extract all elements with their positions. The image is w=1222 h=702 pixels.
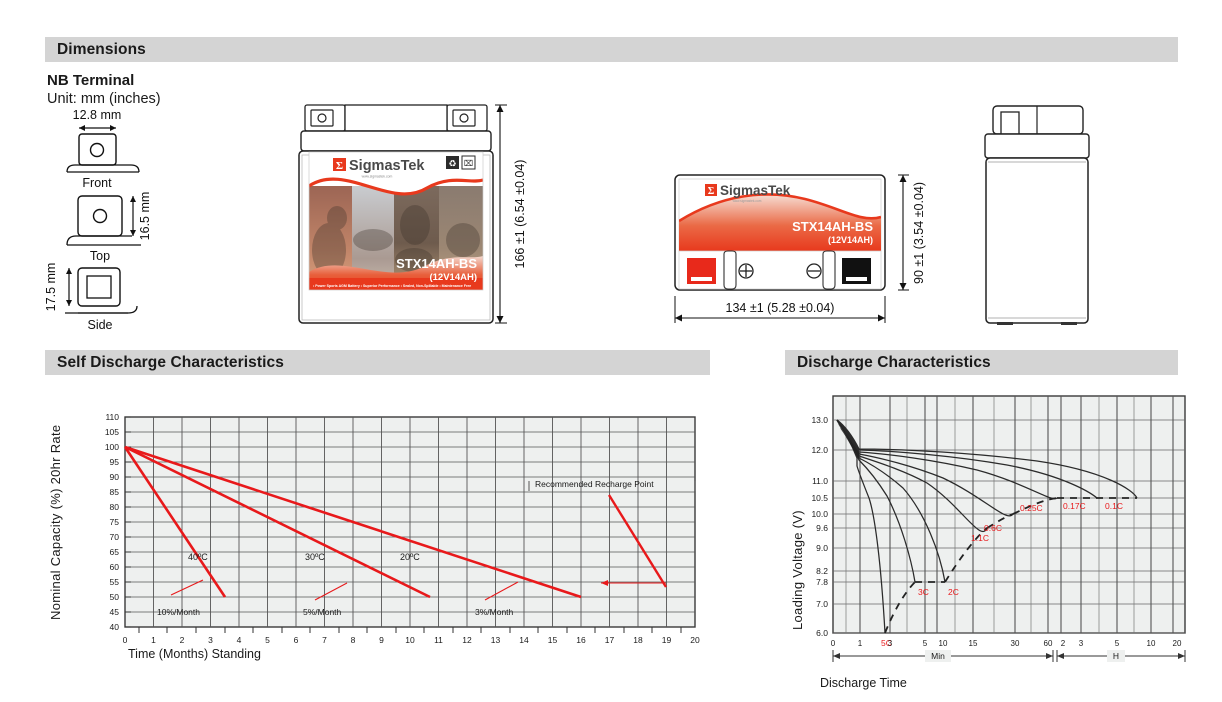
terminal-type-label: NB Terminal xyxy=(47,72,134,89)
svg-text:30: 30 xyxy=(1011,639,1020,648)
label-0-1c: 0.1C xyxy=(1105,501,1123,511)
svg-text:3: 3 xyxy=(1079,639,1084,648)
svg-text:13: 13 xyxy=(491,635,501,645)
battery-website-text-top: www.sigmastek.com xyxy=(733,199,762,203)
battery-model-text-top: STX14AH-BS xyxy=(792,219,873,234)
front-view-label: Front xyxy=(82,176,112,190)
svg-text:10.5: 10.5 xyxy=(811,493,828,503)
label-2c: 2C xyxy=(948,587,959,597)
battery-side-view xyxy=(975,100,1125,332)
section-header-dimensions: Dimensions xyxy=(45,37,1178,62)
discharge-chart: 13.0 12.0 11.0 10.5 10.0 9.6 9.0 8.2 7.8… xyxy=(785,388,1215,668)
svg-text:40: 40 xyxy=(110,622,120,632)
top-height-dim-text: 16.5 mm xyxy=(138,192,152,241)
svg-text:5: 5 xyxy=(1115,639,1120,648)
svg-text:♻: ♻ xyxy=(448,159,456,169)
xaxis-group-min: Min xyxy=(931,651,945,661)
svg-text:10: 10 xyxy=(939,639,948,648)
section-title-dimensions: Dimensions xyxy=(57,41,146,59)
battery-spec-text-top: (12V14AH) xyxy=(828,235,873,245)
battery-website-text: www.sigmastek.com xyxy=(362,175,393,179)
svg-text:9.6: 9.6 xyxy=(816,523,828,533)
svg-text:45: 45 xyxy=(110,607,120,617)
svg-text:3: 3 xyxy=(888,639,893,648)
svg-text:0: 0 xyxy=(123,635,128,645)
label-1-1c: 1.1C xyxy=(971,533,989,543)
svg-text:8.2: 8.2 xyxy=(816,566,828,576)
battery-width-dim-text: 134 ±1 (5.28 ±0.04) xyxy=(726,301,835,315)
svg-text:110: 110 xyxy=(105,412,119,422)
svg-text:65: 65 xyxy=(110,547,120,557)
svg-text:4: 4 xyxy=(237,635,242,645)
terminal-views-diagram: 12.8 mm Front 16.5 mm Top 17.5 mm Side xyxy=(45,108,210,333)
svg-text:75: 75 xyxy=(110,517,120,527)
battery-front-view: Σ SigmasTek www.sigmastek.com ♻ ⌧ STX14A… xyxy=(295,100,545,332)
svg-text:6: 6 xyxy=(294,635,299,645)
svg-text:80: 80 xyxy=(110,502,120,512)
svg-text:14: 14 xyxy=(519,635,529,645)
section-title-discharge: Discharge Characteristics xyxy=(797,354,991,372)
svg-text:1: 1 xyxy=(151,635,156,645)
label-0-25c: 0.25C xyxy=(1020,503,1043,513)
label-3-percent-month: 3%/Month xyxy=(475,607,514,617)
self-discharge-chart: 110 105 100 95 90 85 80 75 70 65 60 55 5… xyxy=(45,405,735,675)
svg-text:12.0: 12.0 xyxy=(811,445,828,455)
svg-text:2: 2 xyxy=(180,635,185,645)
svg-text:5: 5 xyxy=(923,639,928,648)
svg-text:70: 70 xyxy=(110,532,120,542)
svg-text:20: 20 xyxy=(1173,639,1182,648)
label-40c: 40ºC xyxy=(188,552,208,562)
battery-brand-text-top: SigmasTek xyxy=(720,183,791,198)
battery-height-dim-text: 166 ±1 (6.54 ±0.04) xyxy=(513,160,527,269)
svg-text:⌧: ⌧ xyxy=(464,159,473,168)
svg-text:10.0: 10.0 xyxy=(811,509,828,519)
label-5-percent-month: 5%/Month xyxy=(303,607,342,617)
svg-text:13.0: 13.0 xyxy=(811,415,828,425)
svg-text:60: 60 xyxy=(1044,639,1053,648)
svg-text:Σ: Σ xyxy=(708,186,715,197)
svg-text:55: 55 xyxy=(110,577,120,587)
battery-depth-dim-text: 90 ±1 (3.54 ±0.04) xyxy=(912,182,926,284)
svg-text:90: 90 xyxy=(110,472,120,482)
svg-text:105: 105 xyxy=(105,427,119,437)
section-header-self-discharge: Self Discharge Characteristics xyxy=(45,350,710,375)
polarity-positive-icon xyxy=(739,264,753,278)
svg-text:2: 2 xyxy=(1061,639,1066,648)
self-discharge-xlabel: Time (Months) Standing xyxy=(128,647,261,661)
svg-text:7.8: 7.8 xyxy=(816,577,828,587)
svg-text:9.0: 9.0 xyxy=(816,543,828,553)
svg-text:100: 100 xyxy=(105,442,119,452)
svg-text:95: 95 xyxy=(110,457,120,467)
label-30c: 30ºC xyxy=(305,552,325,562)
svg-text:60: 60 xyxy=(110,562,120,572)
label-0-17c: 0.17C xyxy=(1063,501,1086,511)
front-width-dim-text: 12.8 mm xyxy=(73,108,122,122)
label-20c: 20ºC xyxy=(400,552,420,562)
label-0-6c: 0.6C xyxy=(984,523,1002,533)
svg-text:18: 18 xyxy=(633,635,643,645)
svg-text:15: 15 xyxy=(548,635,558,645)
battery-features-text: • Power Sports AGM Battery • Superior Pe… xyxy=(313,284,471,288)
discharge-xlabel: Discharge Time xyxy=(820,676,907,690)
svg-text:85: 85 xyxy=(110,487,120,497)
svg-text:8: 8 xyxy=(351,635,356,645)
self-discharge-ylabel: Nominal Capacity (%) 20hr Rate xyxy=(48,420,63,620)
polarity-negative-icon xyxy=(807,264,821,278)
discharge-ylabel: Loading Voltage (V) xyxy=(790,480,805,630)
svg-text:20: 20 xyxy=(690,635,700,645)
svg-text:17: 17 xyxy=(605,635,615,645)
svg-text:15: 15 xyxy=(969,639,978,648)
top-view-label: Top xyxy=(90,249,110,263)
svg-text:11.0: 11.0 xyxy=(812,476,828,486)
svg-text:0: 0 xyxy=(831,639,836,648)
battery-model-text: STX14AH-BS xyxy=(396,256,477,271)
svg-text:Σ: Σ xyxy=(336,160,343,172)
label-10-percent-month: 10%/Month xyxy=(157,607,200,617)
label-recommended-recharge-point: Recommended Recharge Point xyxy=(535,479,654,489)
unit-note-label: Unit: mm (inches) xyxy=(47,91,161,107)
svg-text:5: 5 xyxy=(265,635,270,645)
battery-brand-text: SigmasTek xyxy=(349,158,425,174)
svg-text:16: 16 xyxy=(576,635,586,645)
battery-top-view: Σ SigmasTek www.sigmastek.com STX14AH-BS… xyxy=(645,155,935,330)
label-3c: 3C xyxy=(918,587,929,597)
svg-text:3: 3 xyxy=(208,635,213,645)
svg-text:6.0: 6.0 xyxy=(816,628,828,638)
xaxis-group-hour: H xyxy=(1113,651,1119,661)
section-header-discharge: Discharge Characteristics xyxy=(785,350,1178,375)
side-view-label: Side xyxy=(87,318,112,332)
svg-text:9: 9 xyxy=(379,635,384,645)
svg-text:7: 7 xyxy=(322,635,327,645)
svg-text:19: 19 xyxy=(662,635,672,645)
svg-text:1: 1 xyxy=(858,639,863,648)
discharge-plot-area xyxy=(833,396,1185,633)
svg-text:11: 11 xyxy=(434,635,443,645)
svg-text:12: 12 xyxy=(462,635,472,645)
section-title-self-discharge: Self Discharge Characteristics xyxy=(57,354,284,372)
svg-text:50: 50 xyxy=(110,592,120,602)
battery-spec-text: (12V14AH) xyxy=(429,272,477,283)
svg-text:7.0: 7.0 xyxy=(816,599,828,609)
side-height-dim-text: 17.5 mm xyxy=(45,263,58,312)
svg-text:10: 10 xyxy=(1147,639,1156,648)
svg-text:10: 10 xyxy=(405,635,415,645)
